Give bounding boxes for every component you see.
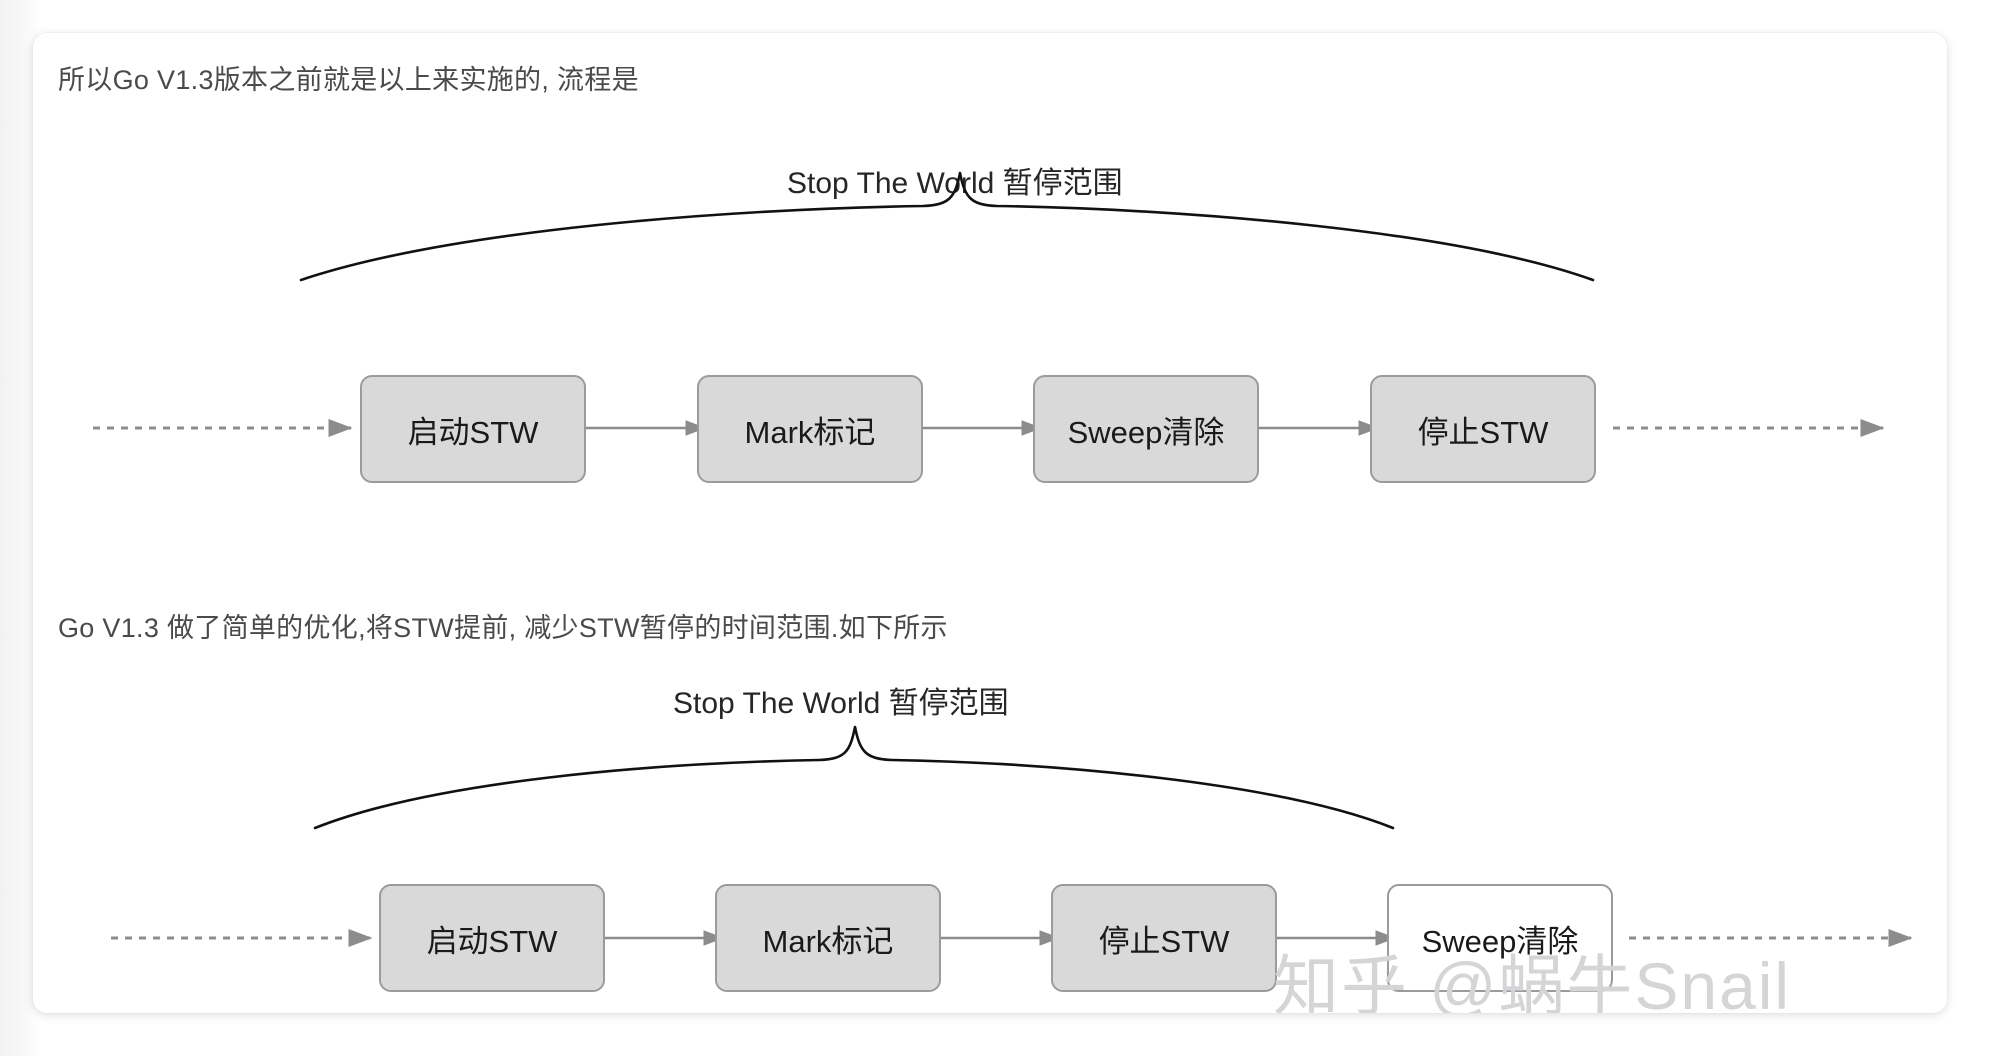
article-card: 所以Go V1.3版本之前就是以上来实施的, 流程是 Stop The Worl… — [33, 33, 1947, 1013]
curly-brace-2 — [315, 727, 1393, 828]
stw-range-label-1: Stop The World 暂停范围 — [787, 158, 1123, 202]
paragraph-text-1: 所以Go V1.3版本之前就是以上来实施的, 流程是 — [58, 58, 639, 97]
flow-node-1-1[interactable]: 启动STW — [360, 375, 586, 483]
flow-node-label: Mark标记 — [745, 407, 876, 452]
flow-node-label: 停止STW — [1099, 916, 1230, 961]
flow-node-label: 启动STW — [408, 407, 539, 452]
paragraph-text-2: Go V1.3 做了简单的优化,将STW提前, 减少STW暂停的时间范围.如下所… — [58, 606, 948, 645]
flow-node-1-4[interactable]: 停止STW — [1370, 375, 1596, 483]
flow-node-label: Mark标记 — [763, 916, 894, 961]
flow-node-2-1[interactable]: 启动STW — [379, 884, 605, 992]
flow-node-2-3[interactable]: 停止STW — [1051, 884, 1277, 992]
flow-node-1-3[interactable]: Sweep清除 — [1033, 375, 1259, 483]
flow-node-label: 停止STW — [1418, 407, 1549, 452]
flow-node-1-2[interactable]: Mark标记 — [697, 375, 923, 483]
flow-node-label: 启动STW — [427, 916, 558, 961]
flow-node-2-2[interactable]: Mark标记 — [715, 884, 941, 992]
stw-range-label-2: Stop The World 暂停范围 — [673, 678, 1009, 722]
flow-node-label: Sweep清除 — [1068, 407, 1225, 452]
zhihu-watermark: 知乎 @蜗牛Snail — [1273, 933, 1791, 1013]
